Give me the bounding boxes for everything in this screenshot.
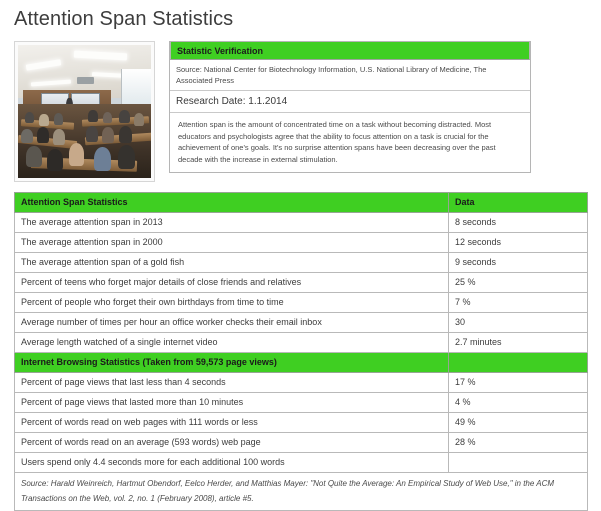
table-row: Percent of words read on web pages with … bbox=[15, 413, 588, 433]
table-section-header-row: Internet Browsing Statistics (Taken from… bbox=[15, 353, 588, 373]
verification-description-text: Attention span is the amount of concentr… bbox=[170, 113, 530, 172]
table-row: Users spend only 4.4 seconds more for ea… bbox=[15, 453, 588, 473]
photo-student bbox=[119, 110, 130, 123]
row-label: Percent of page views that lasted more t… bbox=[15, 393, 449, 413]
photo-student bbox=[47, 149, 63, 172]
photo-student bbox=[94, 147, 111, 171]
table-row: The average attention span in 2000 12 se… bbox=[15, 233, 588, 253]
photo-student bbox=[37, 127, 49, 143]
page-title: Attention Span Statistics bbox=[14, 6, 233, 32]
row-label: Percent of words read on web pages with … bbox=[15, 413, 449, 433]
row-label: Percent of page views that last less tha… bbox=[15, 373, 449, 393]
row-data: 28 % bbox=[449, 433, 588, 453]
row-data: 4 % bbox=[449, 393, 588, 413]
table-row: Percent of people who forget their own b… bbox=[15, 293, 588, 313]
photo-student bbox=[119, 126, 132, 143]
row-data bbox=[449, 453, 588, 473]
photo-student bbox=[134, 113, 145, 126]
verification-header: Statistic Verification bbox=[170, 41, 530, 60]
section-header-data bbox=[449, 353, 588, 373]
photo-student bbox=[39, 114, 48, 126]
verification-research-date: Research Date: 1.1.2014 bbox=[176, 95, 524, 108]
statistics-page: Attention Span Statistics bbox=[0, 0, 601, 466]
row-data: 9 seconds bbox=[449, 253, 588, 273]
row-label: Average number of times per hour an offi… bbox=[15, 313, 449, 333]
verification-source-row: Source: National Center for Biotechnolog… bbox=[170, 60, 530, 90]
photo-student bbox=[25, 112, 34, 124]
row-label: Percent of teens who forget major detail… bbox=[15, 273, 449, 293]
table-header-row: Attention Span Statistics Data bbox=[15, 193, 588, 213]
table-row: Percent of teens who forget major detail… bbox=[15, 273, 588, 293]
lecture-hall-classroom-photo bbox=[18, 45, 151, 178]
section-header-label: Internet Browsing Statistics (Taken from… bbox=[15, 353, 449, 373]
row-data: 49 % bbox=[449, 413, 588, 433]
photo-student bbox=[26, 146, 42, 167]
lecture-hall-photo-frame bbox=[14, 41, 155, 182]
row-data: 12 seconds bbox=[449, 233, 588, 253]
row-data: 25 % bbox=[449, 273, 588, 293]
photo-student bbox=[21, 129, 33, 144]
table-header-data: Data bbox=[449, 193, 588, 213]
photo-student bbox=[69, 143, 85, 166]
row-data: 2.7 minutes bbox=[449, 333, 588, 353]
photo-student bbox=[54, 113, 63, 125]
table-row: Average number of times per hour an offi… bbox=[15, 313, 588, 333]
row-data: 30 bbox=[449, 313, 588, 333]
photo-student bbox=[118, 145, 135, 169]
verification-date-row: Research Date: 1.1.2014 bbox=[170, 90, 530, 112]
table-row: Percent of words read on an average (593… bbox=[15, 433, 588, 453]
photo-student bbox=[53, 129, 65, 145]
photo-student bbox=[86, 126, 98, 142]
table-row: Average length watched of a single inter… bbox=[15, 333, 588, 353]
photo-projector bbox=[77, 77, 94, 84]
row-data: 7 % bbox=[449, 293, 588, 313]
row-label: Percent of people who forget their own b… bbox=[15, 293, 449, 313]
verification-source-text: Source: National Center for Biotechnolog… bbox=[176, 64, 524, 86]
table-row: Percent of page views that last less tha… bbox=[15, 373, 588, 393]
table-row: The average attention span in 2013 8 sec… bbox=[15, 213, 588, 233]
verification-description-row: Attention span is the amount of concentr… bbox=[170, 112, 530, 172]
row-data: 17 % bbox=[449, 373, 588, 393]
row-label: Percent of words read on an average (593… bbox=[15, 433, 449, 453]
table-footer-source-row: Source: Harald Weinreich, Hartmut Obendo… bbox=[15, 473, 588, 511]
photo-student bbox=[103, 112, 112, 124]
row-data: 8 seconds bbox=[449, 213, 588, 233]
table-header-label: Attention Span Statistics bbox=[15, 193, 449, 213]
row-label: The average attention span in 2013 bbox=[15, 213, 449, 233]
table-row: Percent of page views that lasted more t… bbox=[15, 393, 588, 413]
row-label: The average attention span in 2000 bbox=[15, 233, 449, 253]
statistic-verification-panel: Statistic Verification Source: National … bbox=[169, 41, 531, 173]
row-label: The average attention span of a gold fis… bbox=[15, 253, 449, 273]
row-label: Users spend only 4.4 seconds more for ea… bbox=[15, 453, 449, 473]
attention-span-statistics-table: Attention Span Statistics Data The avera… bbox=[14, 192, 588, 511]
footer-source-text: Source: Harald Weinreich, Hartmut Obendo… bbox=[15, 473, 588, 511]
table-row: The average attention span of a gold fis… bbox=[15, 253, 588, 273]
photo-student bbox=[102, 127, 114, 143]
row-label: Average length watched of a single inter… bbox=[15, 333, 449, 353]
photo-student bbox=[88, 110, 97, 122]
